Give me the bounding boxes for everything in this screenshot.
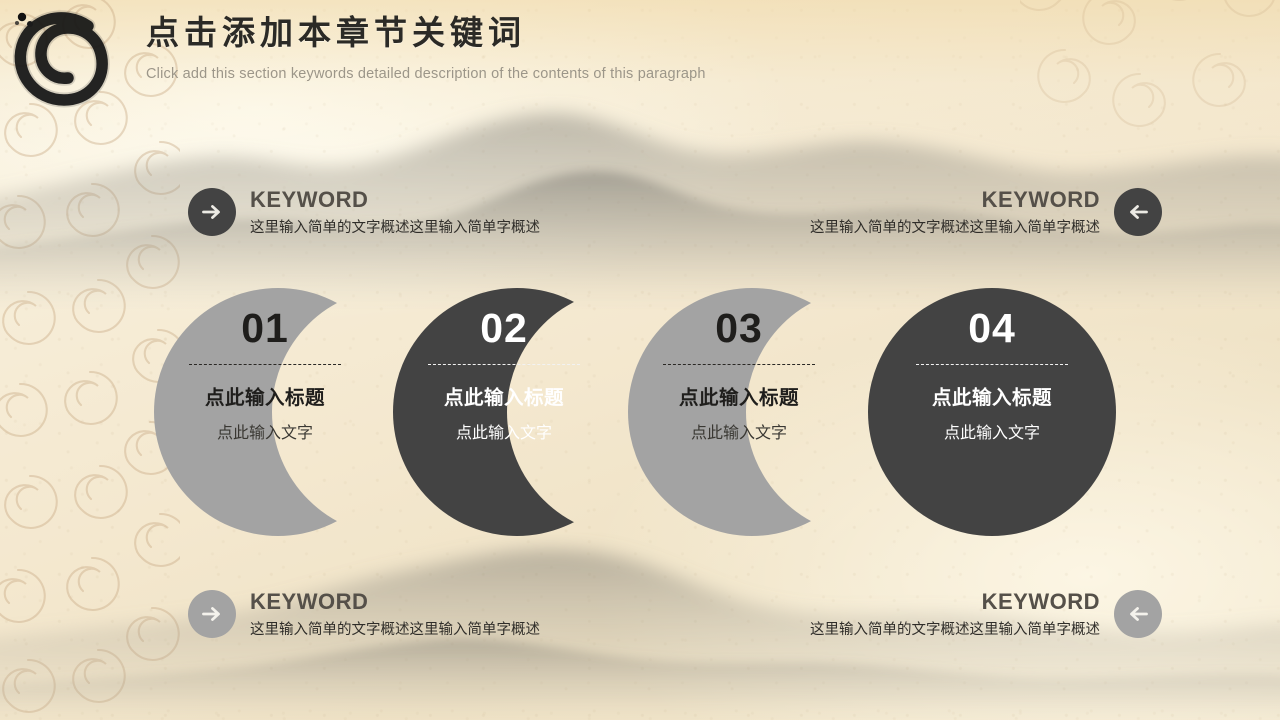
dashed-divider xyxy=(428,364,580,365)
keyword-block-bottom-left[interactable]: KEYWORD 这里输入简单的文字概述这里输入简单字概述 xyxy=(188,588,540,639)
step-number: 01 xyxy=(241,308,289,349)
step-circle-02[interactable]: 02 点此输入标题 点此输入文字 xyxy=(393,286,641,538)
keyword-block-top-left[interactable]: KEYWORD 这里输入简单的文字概述这里输入简单字概述 xyxy=(188,186,540,237)
page-title: 点击添加本章节关键词 xyxy=(146,16,706,54)
step-number: 03 xyxy=(715,308,763,349)
step-title: 点此输入标题 xyxy=(205,387,325,410)
keyword-text: KEYWORD 这里输入简单的文字概述这里输入简单字概述 xyxy=(810,186,1100,237)
keyword-description: 这里输入简单的文字概述这里输入简单字概述 xyxy=(810,219,1100,238)
dashed-divider xyxy=(916,364,1068,365)
keyword-title: KEYWORD xyxy=(810,186,1100,214)
step-circle-content: 02 点此输入标题 点此输入文字 xyxy=(393,286,615,538)
keyword-description: 这里输入简单的文字概述这里输入简单字概述 xyxy=(810,621,1100,640)
keyword-text: KEYWORD 这里输入简单的文字概述这里输入简单字概述 xyxy=(250,588,540,639)
keyword-description: 这里输入简单的文字概述这里输入简单字概述 xyxy=(250,621,540,640)
step-circle-content: 01 点此输入标题 点此输入文字 xyxy=(154,286,376,538)
keyword-title: KEYWORD xyxy=(250,588,540,616)
step-title: 点此输入标题 xyxy=(444,387,564,410)
step-number: 02 xyxy=(480,308,528,349)
dashed-divider xyxy=(189,364,341,365)
arrow-left-icon[interactable] xyxy=(1114,188,1162,236)
step-number: 04 xyxy=(968,308,1016,349)
slide-header: 点击添加本章节关键词 Click add this section keywor… xyxy=(146,16,706,82)
keyword-block-top-right[interactable]: KEYWORD 这里输入简单的文字概述这里输入简单字概述 xyxy=(810,186,1162,237)
step-circle-content: 04 点此输入标题 点此输入文字 xyxy=(868,286,1116,538)
keyword-text: KEYWORD 这里输入简单的文字概述这里输入简单字概述 xyxy=(810,588,1100,639)
keyword-title: KEYWORD xyxy=(810,588,1100,616)
arrow-right-icon[interactable] xyxy=(188,188,236,236)
spiral-cloud-pattern-right xyxy=(1020,0,1280,200)
keyword-description: 这里输入简单的文字概述这里输入简单字概述 xyxy=(250,219,540,238)
keyword-text: KEYWORD 这里输入简单的文字概述这里输入简单字概述 xyxy=(250,186,540,237)
step-circle-content: 03 点此输入标题 点此输入文字 xyxy=(628,286,850,538)
step-subtitle: 点此输入文字 xyxy=(456,424,552,443)
step-subtitle: 点此输入文字 xyxy=(691,424,787,443)
page-subtitle: Click add this section keywords detailed… xyxy=(146,66,706,82)
arrow-left-icon[interactable] xyxy=(1114,590,1162,638)
keyword-title: KEYWORD xyxy=(250,186,540,214)
step-circles-row: 01 点此输入标题 点此输入文字 02 点此输入标题 xyxy=(0,286,1280,546)
step-circle-01[interactable]: 01 点此输入标题 点此输入文字 xyxy=(154,286,402,538)
step-circle-03[interactable]: 03 点此输入标题 点此输入文字 xyxy=(628,286,876,538)
enso-ink-circle-icon xyxy=(6,4,122,114)
step-title: 点此输入标题 xyxy=(679,387,799,410)
step-title: 点此输入标题 xyxy=(932,387,1052,410)
dashed-divider xyxy=(663,364,815,365)
keyword-block-bottom-right[interactable]: KEYWORD 这里输入简单的文字概述这里输入简单字概述 xyxy=(810,588,1162,639)
slide-canvas: 点击添加本章节关键词 Click add this section keywor… xyxy=(0,0,1280,720)
arrow-right-icon[interactable] xyxy=(188,590,236,638)
step-subtitle: 点此输入文字 xyxy=(217,424,313,443)
step-circle-04[interactable]: 04 点此输入标题 点此输入文字 xyxy=(868,286,1116,538)
step-subtitle: 点此输入文字 xyxy=(944,424,1040,443)
